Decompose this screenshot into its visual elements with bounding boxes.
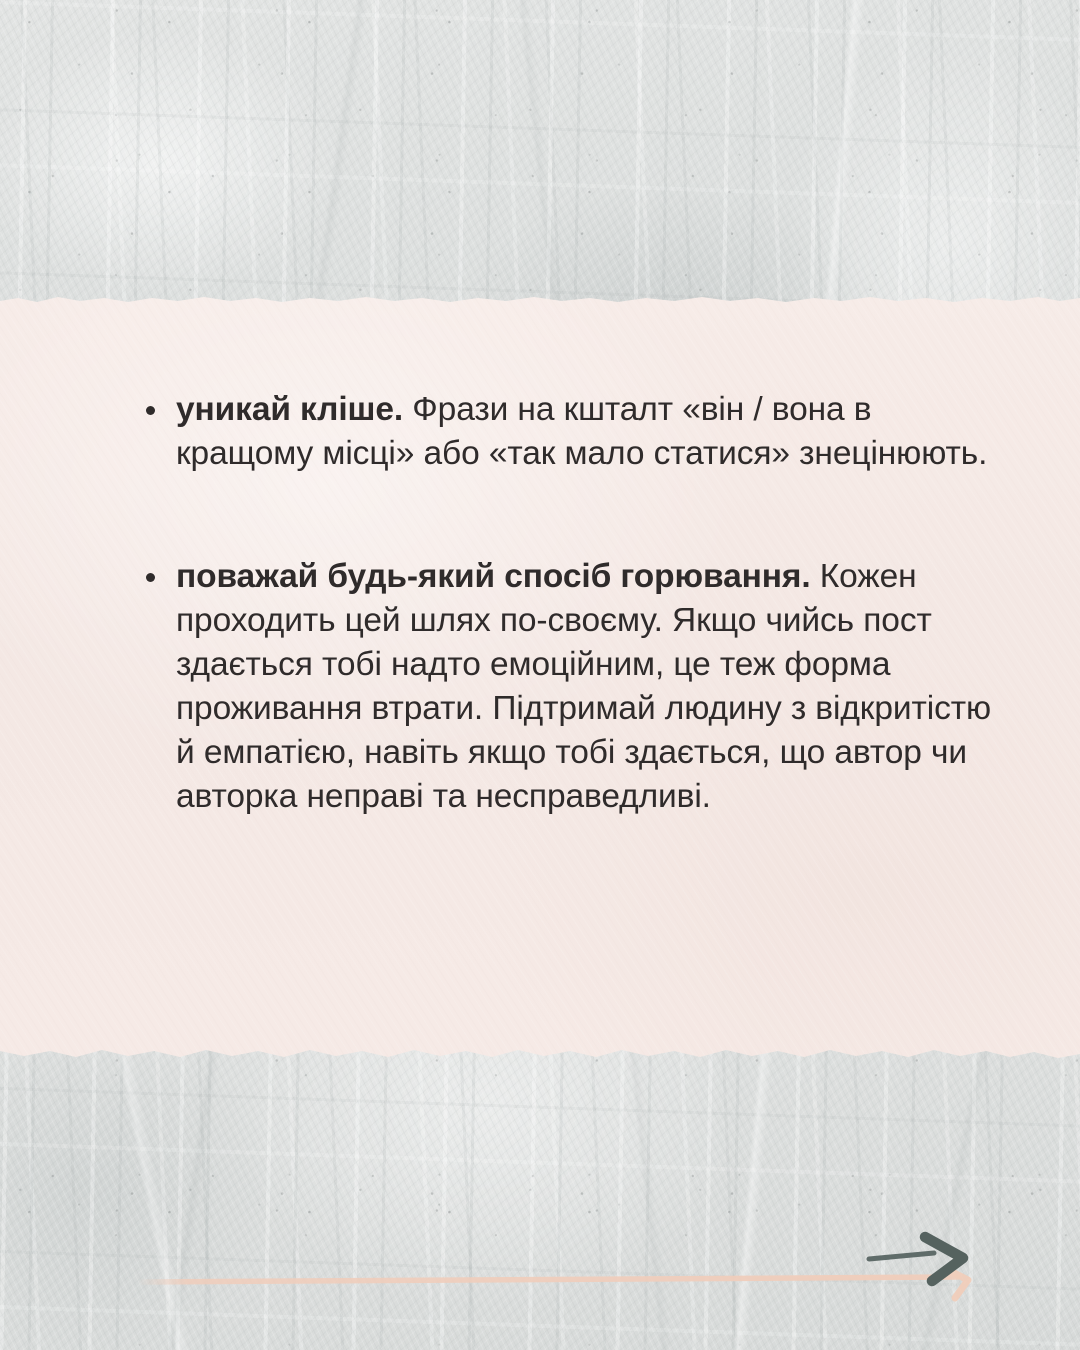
bullet-list: уникай кліше. Фрази на кшталт «він / вон… — [144, 388, 994, 819]
bullet-dot-icon — [146, 573, 155, 582]
bullet-lead: уникай кліше. — [176, 391, 403, 428]
bullet-body: Кожен проходить цей шлях по-своєму. Якщо… — [176, 558, 991, 815]
bullet-paragraph: поважай будь-який спосіб горювання. Коже… — [176, 555, 994, 819]
bullet-lead: поважай будь-який спосіб горювання. — [176, 558, 811, 595]
list-item: уникай кліше. Фрази на кшталт «він / вон… — [144, 388, 994, 476]
slide-canvas: уникай кліше. Фрази на кшталт «він / вон… — [0, 0, 1080, 1350]
bullet-paragraph: уникай кліше. Фрази на кшталт «він / вон… — [176, 388, 994, 476]
bullet-dot-icon — [146, 406, 155, 415]
list-item: поважай будь-який спосіб горювання. Коже… — [144, 555, 994, 819]
